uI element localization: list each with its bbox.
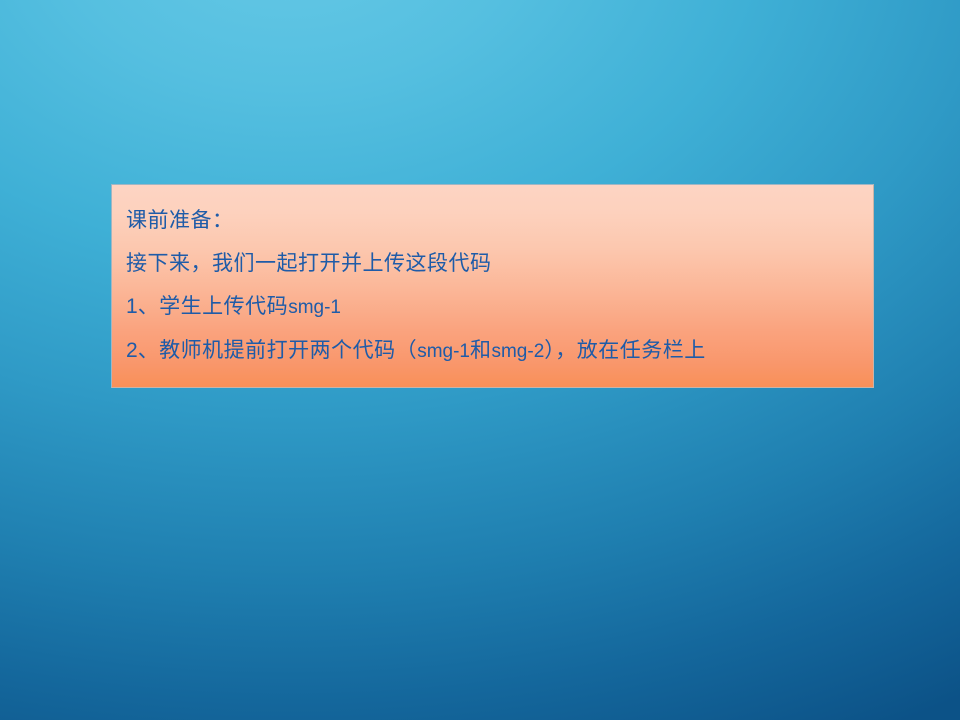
slide-canvas: 课前准备： 接下来，我们一起打开并上传这段代码 1、学生上传代码smg-1 2、… <box>0 0 960 720</box>
code-name-run: smg-1 <box>288 297 341 318</box>
text-line-item-2: 2、教师机提前打开两个代码（smg-1和smg-2），放在任务栏上 <box>126 329 857 373</box>
text-line-item-1: 1、学生上传代码smg-1 <box>126 285 857 329</box>
text-run: 、学生上传代码 <box>138 294 289 318</box>
content-text-box[interactable]: 课前准备： 接下来，我们一起打开并上传这段代码 1、学生上传代码smg-1 2、… <box>111 184 874 388</box>
text-run: 、教师机提前打开两个代码（ <box>138 338 418 362</box>
list-number: 2 <box>126 339 138 362</box>
code-name-run: smg-2 <box>491 341 544 362</box>
code-name-run: smg-1 <box>417 341 470 362</box>
text-run: 接下来，我们一起打开并上传这段代码 <box>126 251 492 275</box>
list-number: 1 <box>126 295 138 318</box>
text-line-title: 课前准备： <box>126 199 857 242</box>
text-run: 课前准备： <box>126 208 234 232</box>
text-line-intro: 接下来，我们一起打开并上传这段代码 <box>126 242 857 285</box>
text-run: 和 <box>470 338 492 362</box>
text-run: ），放在任务栏上 <box>544 338 706 362</box>
